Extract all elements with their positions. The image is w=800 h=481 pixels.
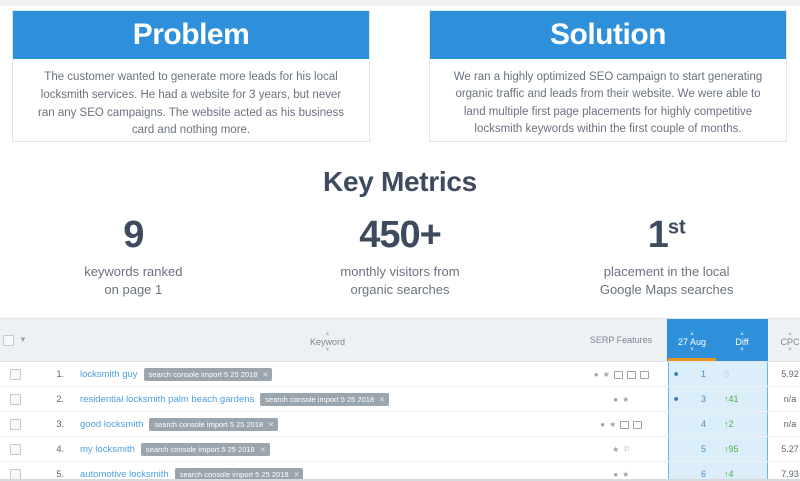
table-row[interactable]: 4. my locksmithsearch console import 5 2…	[0, 437, 800, 462]
key-metrics-row: 9 keywords ranked on page 1 450+ monthly…	[0, 198, 800, 298]
metric-map-placement: 1st placement in the local Google Maps s…	[533, 216, 800, 298]
solution-card-title: Solution	[550, 20, 666, 50]
keyword-tag-label: search console import 5 25 2018	[149, 370, 258, 379]
row-diff-value: 41	[729, 394, 739, 404]
star-icon: ★	[609, 420, 616, 429]
map-pin-icon: ●	[594, 370, 599, 379]
knowledge-panel-icon	[640, 371, 649, 379]
row-keyword-cell: my locksmithsearch console import 5 25 2…	[72, 437, 575, 462]
table-header-row: ▼ ▲ Keyword ▼ SERP Features	[0, 319, 800, 362]
map-pin-icon: ●	[613, 395, 618, 404]
map-pin-icon: ●	[600, 420, 605, 429]
metric-number: 450+	[359, 214, 441, 256]
row-position-value: 4	[701, 419, 706, 429]
row-checkbox[interactable]	[10, 394, 21, 405]
row-cpc: n/a	[768, 387, 800, 412]
metric-label-line1: monthly visitors from	[267, 263, 534, 281]
table-row[interactable]: 1. locksmith guysearch console import 5 …	[0, 362, 800, 387]
row-diff: ↑2	[716, 412, 768, 437]
metric-suffix: st	[668, 216, 686, 238]
row-diff: 0	[716, 362, 768, 387]
metric-label-line2: on page 1	[0, 281, 267, 299]
header-diff[interactable]: ▲ Diff ▼	[716, 319, 768, 362]
row-serp-features: ●★	[575, 387, 668, 412]
row-cpc: n/a	[768, 412, 800, 437]
select-all-checkbox[interactable]	[3, 335, 14, 346]
metric-monthly-visitors: 450+ monthly visitors from organic searc…	[267, 216, 534, 298]
solution-card-header: Solution	[430, 11, 786, 59]
row-position-value: 1	[701, 369, 706, 379]
sort-desc-icon[interactable]: ▼	[787, 348, 793, 353]
table-row[interactable]: 2. residential locksmith palm beach gard…	[0, 387, 800, 412]
row-checkbox[interactable]	[10, 469, 21, 480]
keyword-link[interactable]: my locksmith	[80, 443, 135, 454]
keyword-table: ▼ ▲ Keyword ▼ SERP Features	[0, 318, 800, 481]
keyword-tag-label: search console import 5 25 2018	[154, 420, 263, 429]
header-index	[30, 319, 72, 362]
image-pack-icon	[620, 421, 629, 429]
metric-value: 9	[0, 216, 267, 254]
sort-desc-icon[interactable]: ▼	[689, 348, 695, 353]
row-serp-features: ●★	[575, 412, 668, 437]
row-checkbox-cell[interactable]	[0, 437, 30, 462]
row-checkbox-cell[interactable]	[0, 387, 30, 412]
key-metrics-section: Key Metrics 9 keywords ranked on page 1 …	[0, 160, 800, 315]
row-diff-value: 2	[729, 419, 734, 429]
metric-label: monthly visitors from organic searches	[267, 263, 534, 298]
row-diff: ↑41	[716, 387, 768, 412]
local-pack-pin-icon: ●	[674, 395, 679, 404]
keyword-tag-label: search console import 5 25 2018	[180, 470, 289, 479]
star-icon: ★	[603, 370, 610, 379]
header-select-all[interactable]: ▼	[0, 319, 30, 362]
sort-desc-icon[interactable]: ▼	[739, 348, 745, 353]
keyword-tag[interactable]: search console import 5 25 2018✕	[260, 393, 389, 406]
row-keyword-cell: residential locksmith palm beach gardens…	[72, 387, 575, 412]
row-position: 5	[668, 437, 717, 462]
row-index: 4.	[30, 437, 72, 462]
tag-remove-icon[interactable]: ✕	[379, 397, 385, 404]
row-position: ●3	[668, 387, 717, 412]
tag-remove-icon[interactable]: ✕	[262, 372, 268, 379]
row-index: 2.	[30, 387, 72, 412]
keyword-link[interactable]: residential locksmith palm beach gardens	[80, 393, 254, 404]
keyword-link[interactable]: good locksmith	[80, 418, 143, 429]
keyword-tag[interactable]: search console import 5 25 2018✕	[149, 418, 278, 431]
local-pack-pin-icon: ●	[674, 370, 679, 379]
table-row[interactable]: 3. good locksmithsearch console import 5…	[0, 412, 800, 437]
tag-remove-icon[interactable]: ✕	[260, 447, 266, 454]
row-diff: ↑95	[716, 437, 768, 462]
row-diff-value: 95	[729, 444, 739, 454]
tag-remove-icon[interactable]: ✕	[268, 422, 274, 429]
header-date[interactable]: ▲ 27 Aug ▼	[668, 319, 717, 362]
row-position: ●1	[668, 362, 717, 387]
top-strip	[0, 0, 800, 6]
metric-label-line1: keywords ranked	[0, 263, 267, 281]
row-diff-value: 0	[724, 369, 729, 379]
row-index: 3.	[30, 412, 72, 437]
row-position-value: 6	[701, 469, 706, 479]
cards-section: Problem The customer wanted to generate …	[0, 10, 800, 150]
metric-label-line2: organic searches	[267, 281, 534, 299]
row-serp-features: ★⚐	[575, 437, 668, 462]
solution-card-body: We ran a highly optimized SEO campaign t…	[430, 59, 786, 146]
map-pin-icon: ●	[613, 470, 618, 479]
metric-label-line2: Google Maps searches	[533, 281, 800, 299]
row-checkbox[interactable]	[10, 444, 21, 455]
header-cpc[interactable]: ▲ CPC ▼	[768, 319, 800, 362]
video-icon	[627, 371, 636, 379]
row-checkbox[interactable]	[10, 369, 21, 380]
video-icon	[633, 421, 642, 429]
sort-desc-icon[interactable]: ▼	[325, 348, 331, 353]
header-keyword[interactable]: ▲ Keyword ▼	[72, 319, 575, 362]
keyword-tag[interactable]: search console import 5 25 2018✕	[141, 443, 270, 456]
key-metrics-title: Key Metrics	[0, 160, 800, 198]
metric-number: 1	[648, 214, 668, 256]
row-index: 1.	[30, 362, 72, 387]
keyword-link[interactable]: automotive locksmith	[80, 468, 169, 479]
tag-remove-icon[interactable]: ✕	[294, 472, 300, 479]
problem-card-title: Problem	[133, 20, 250, 50]
star-icon: ★	[612, 445, 619, 454]
metric-label: placement in the local Google Maps searc…	[533, 263, 800, 298]
header-serp-features: SERP Features	[575, 319, 668, 362]
row-position-value: 5	[701, 444, 706, 454]
solution-card: Solution We ran a highly optimized SEO c…	[429, 10, 787, 142]
problem-card: Problem The customer wanted to generate …	[12, 10, 370, 142]
row-position-value: 3	[701, 394, 706, 404]
metric-label-line1: placement in the local	[533, 263, 800, 281]
page-root: Problem The customer wanted to generate …	[0, 0, 800, 480]
header-serp-features-label: SERP Features	[590, 335, 652, 345]
metric-value: 450+	[267, 216, 534, 254]
image-pack-icon	[614, 371, 623, 379]
row-diff-value: 4	[729, 469, 734, 479]
chevron-down-icon[interactable]: ▼	[19, 336, 27, 344]
row-position: 4	[668, 412, 717, 437]
keyword-tag[interactable]: search console import 5 25 2018✕	[144, 368, 273, 381]
problem-card-header: Problem	[13, 11, 369, 59]
keyword-link[interactable]: locksmith guy	[80, 368, 138, 379]
row-checkbox[interactable]	[10, 419, 21, 430]
metric-keywords-ranked: 9 keywords ranked on page 1	[0, 216, 267, 298]
row-checkbox-cell[interactable]	[0, 362, 30, 387]
keyword-tag-label: search console import 5 25 2018	[146, 445, 255, 454]
keyword-tag-label: search console import 5 25 2018	[265, 395, 374, 404]
row-checkbox-cell[interactable]	[0, 412, 30, 437]
metric-number: 9	[123, 214, 143, 256]
row-cpc: 5.92	[768, 362, 800, 387]
row-keyword-cell: good locksmithsearch console import 5 25…	[72, 412, 575, 437]
star-icon: ★	[622, 395, 629, 404]
star-icon: ★	[622, 470, 629, 479]
problem-card-body: The customer wanted to generate more lea…	[13, 59, 369, 148]
row-cpc: 5.27	[768, 437, 800, 462]
row-keyword-cell: locksmith guysearch console import 5 25 …	[72, 362, 575, 387]
metric-value: 1st	[533, 216, 800, 254]
row-serp-features: ●★	[575, 362, 668, 387]
metric-label: keywords ranked on page 1	[0, 263, 267, 298]
flag-icon: ⚐	[623, 445, 630, 454]
